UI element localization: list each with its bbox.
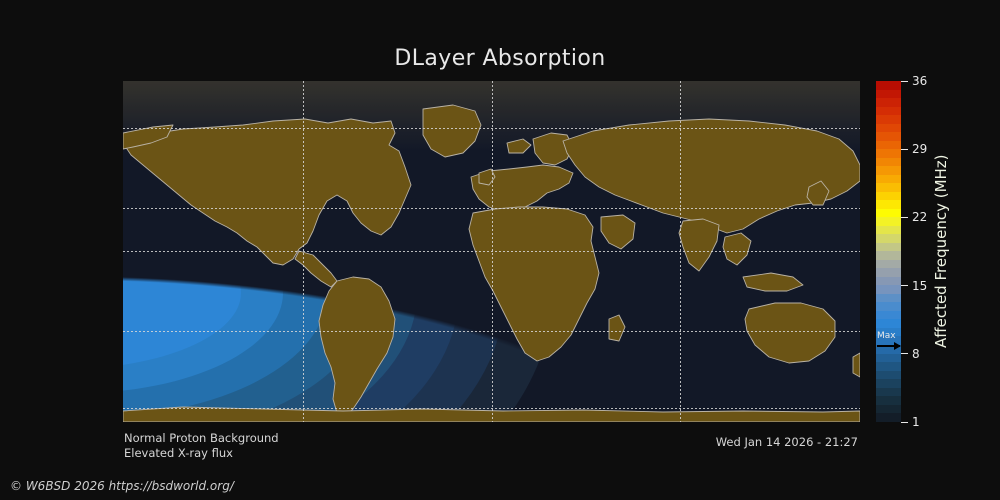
colorbar-tick-15: 15: [901, 279, 927, 293]
page-title: DLayer Absorption: [0, 46, 1000, 71]
colorbar-segment-3: [876, 107, 901, 116]
colorbar-segment-10: [876, 166, 901, 175]
tick-mark-icon: [901, 422, 908, 423]
colorbar-segment-23: [876, 277, 901, 286]
tick-mark-icon: [901, 217, 908, 218]
colorbar-segment-34: [876, 371, 901, 380]
colorbar-segment-25: [876, 294, 901, 303]
colorbar-segment-6: [876, 132, 901, 141]
copyright-footer: © W6BSD 2026 https://bsdworld.org/: [10, 479, 234, 493]
proton-status-text: Normal Proton Background: [124, 431, 279, 445]
colorbar-segment-12: [876, 183, 901, 192]
colorbar-segment-0: [876, 81, 901, 90]
colorbar-max-marker: Max: [876, 332, 902, 356]
colorbar-tick-22: 22: [901, 210, 927, 224]
colorbar-segment-28: [876, 319, 901, 328]
colorbar-tick-label: 8: [912, 347, 920, 361]
colorbar-segment-2: [876, 98, 901, 107]
colorbar-segment-18: [876, 234, 901, 243]
colorbar[interactable]: [876, 81, 901, 422]
colorbar-segment-9: [876, 158, 901, 167]
tick-mark-icon: [901, 353, 908, 354]
longitude-line-60w: [303, 81, 304, 422]
colorbar-segment-14: [876, 200, 901, 209]
colorbar-segment-21: [876, 260, 901, 269]
xray-status-text: Elevated X-ray flux: [124, 446, 233, 460]
colorbar-axis-label: Affected Frequency (MHz): [931, 81, 951, 422]
longitude-line-60e: [680, 81, 681, 422]
world-map[interactable]: [123, 81, 860, 422]
colorbar-segment-33: [876, 362, 901, 371]
colorbar-segment-35: [876, 379, 901, 388]
colorbar-segment-24: [876, 285, 901, 294]
colorbar-segment-4: [876, 115, 901, 124]
colorbar-segment-36: [876, 388, 901, 397]
colorbar-segment-17: [876, 226, 901, 235]
colorbar-tick-8: 8: [901, 347, 920, 361]
colorbar-tick-36: 36: [901, 74, 927, 88]
colorbar-tick-29: 29: [901, 142, 927, 156]
tick-mark-icon: [901, 285, 908, 286]
colorbar-segment-26: [876, 302, 901, 311]
colorbar-segment-22: [876, 268, 901, 277]
app-root: DLayer Absorption: [0, 0, 1000, 500]
colorbar-segment-16: [876, 217, 901, 226]
colorbar-segment-19: [876, 243, 901, 252]
colorbar-max-label: Max: [877, 331, 896, 341]
colorbar-segment-13: [876, 192, 901, 201]
colorbar-tick-1: 1: [901, 415, 920, 429]
tick-mark-icon: [901, 81, 908, 82]
colorbar-segment-15: [876, 209, 901, 218]
longitude-line-0: [492, 81, 493, 422]
colorbar-segment-39: [876, 413, 901, 422]
colorbar-segment-37: [876, 396, 901, 405]
colorbar-segment-11: [876, 175, 901, 184]
colorbar-segment-7: [876, 141, 901, 150]
colorbar-segment-1: [876, 90, 901, 99]
colorbar-segment-20: [876, 251, 901, 260]
colorbar-tick-label: 1: [912, 415, 920, 429]
colorbar-segment-5: [876, 124, 901, 133]
tick-mark-icon: [901, 149, 908, 150]
colorbar-tick-label: 36: [912, 74, 927, 88]
colorbar-tick-label: 29: [912, 142, 927, 156]
colorbar-segment-27: [876, 311, 901, 320]
graticule-layer: [123, 81, 860, 422]
colorbar-tick-label: 22: [912, 210, 927, 224]
colorbar-segment-8: [876, 149, 901, 158]
arrow-right-icon: [877, 345, 900, 347]
colorbar-segment-38: [876, 405, 901, 414]
colorbar-tick-label: 15: [912, 279, 927, 293]
timestamp-text: Wed Jan 14 2026 - 21:27: [716, 435, 858, 449]
